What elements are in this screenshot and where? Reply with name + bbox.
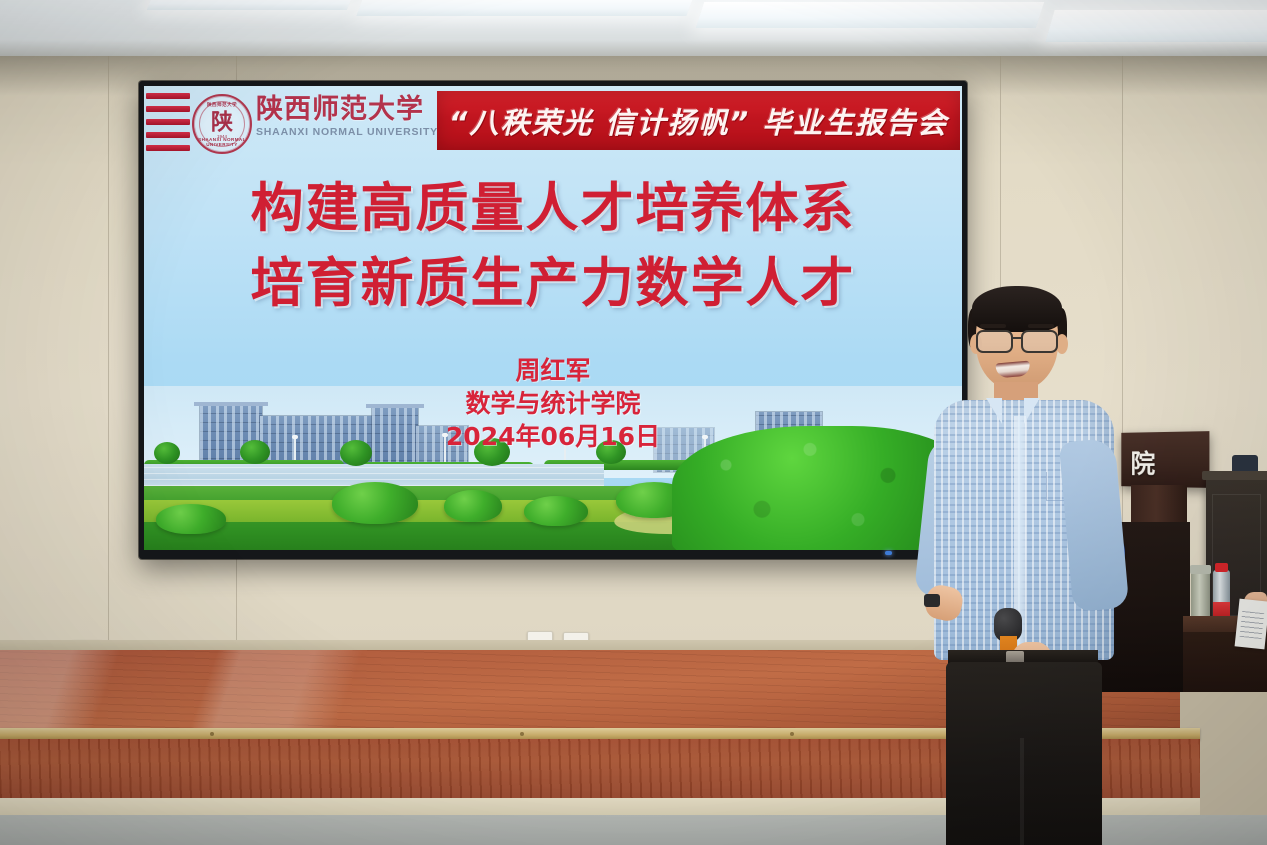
eyebrow bbox=[1028, 324, 1054, 328]
campus-shrub bbox=[332, 482, 418, 524]
lens-right bbox=[1021, 330, 1058, 353]
seal-center-glyph: 陕 bbox=[211, 113, 233, 135]
lectern-glyph: 院 bbox=[1131, 444, 1156, 481]
lectern-top: 院 bbox=[1121, 431, 1209, 488]
lecture-hall-photo: 陕西师范大学 陕 1944 SHAANXI NORMAL UNIVERSITY … bbox=[0, 0, 1267, 845]
seal-arc-top-text: 陕西师范大学 bbox=[194, 102, 250, 108]
red-bar bbox=[146, 145, 190, 151]
speaker-department: 数学与统计学院 bbox=[144, 387, 962, 420]
university-seal-logo: 陕西师范大学 陕 1944 SHAANXI NORMAL UNIVERSITY bbox=[192, 94, 252, 154]
paper-text-lines bbox=[1240, 611, 1265, 639]
trim-screw bbox=[210, 732, 214, 736]
slide-title-line-1: 构建高质量人才培养体系 bbox=[144, 171, 962, 246]
eyebrow bbox=[980, 324, 1006, 328]
lectern-column bbox=[1131, 485, 1187, 527]
slide-content: 陕西师范大学 陕 1944 SHAANXI NORMAL UNIVERSITY … bbox=[144, 86, 962, 550]
university-name-cn: 陕西师范大学 bbox=[256, 96, 436, 124]
event-banner-text: “八秩荣光 信计扬帆” 毕业生报告会 bbox=[449, 100, 949, 142]
presentation-clicker[interactable] bbox=[924, 594, 940, 607]
red-bar bbox=[146, 93, 190, 99]
collar-left bbox=[986, 398, 1002, 424]
trim-screw bbox=[790, 732, 794, 736]
university-name-en: SHAANXI NORMAL UNIVERSITY bbox=[256, 126, 436, 138]
speaker-info-block: 周红军 数学与统计学院 2024年06月16日 bbox=[144, 354, 962, 453]
cabinet-top bbox=[1202, 471, 1267, 480]
seal-arc-bottom-text: SHAANXI NORMAL UNIVERSITY bbox=[194, 137, 250, 147]
red-bar bbox=[146, 106, 190, 112]
speaker-name: 周红军 bbox=[144, 354, 962, 387]
ceiling-light-panel bbox=[147, 0, 353, 10]
slide-title-block: 构建高质量人才培养体系 培育新质生产力数学人才 bbox=[144, 171, 962, 322]
power-indicator-led bbox=[885, 551, 892, 555]
ceiling-light-panel bbox=[356, 0, 693, 16]
wall-panel-seam bbox=[108, 56, 109, 676]
presentation-screen[interactable]: 陕西师范大学 陕 1944 SHAANXI NORMAL UNIVERSITY … bbox=[139, 81, 967, 559]
eyeglasses bbox=[974, 330, 1060, 350]
trousers bbox=[946, 662, 1102, 845]
presentation-date: 2024年06月16日 bbox=[144, 420, 962, 453]
printed-papers bbox=[1235, 599, 1267, 650]
slide-title-line-2: 培育新质生产力数学人才 bbox=[144, 246, 962, 321]
campus-shrub bbox=[524, 496, 588, 526]
lens-left bbox=[976, 330, 1013, 353]
university-name-block: 陕西师范大学 SHAANXI NORMAL UNIVERSITY bbox=[256, 96, 436, 138]
red-bar bbox=[146, 119, 190, 125]
campus-shrub bbox=[156, 504, 226, 534]
ceiling-light-panel bbox=[1045, 10, 1267, 42]
slide-header: 陕西师范大学 陕 1944 SHAANXI NORMAL UNIVERSITY … bbox=[144, 86, 962, 159]
trouser-seam bbox=[1020, 738, 1024, 845]
campus-shrub bbox=[444, 490, 502, 522]
ceiling-light-panel bbox=[696, 2, 1044, 28]
collar-right bbox=[1024, 398, 1040, 424]
red-bars-decoration bbox=[146, 93, 190, 151]
event-banner: “八秩荣光 信计扬帆” 毕业生报告会 bbox=[437, 91, 960, 150]
trim-screw bbox=[520, 732, 524, 736]
thermos-lid bbox=[1190, 565, 1211, 574]
red-bar bbox=[146, 132, 190, 138]
bottle-cap bbox=[1215, 563, 1228, 572]
